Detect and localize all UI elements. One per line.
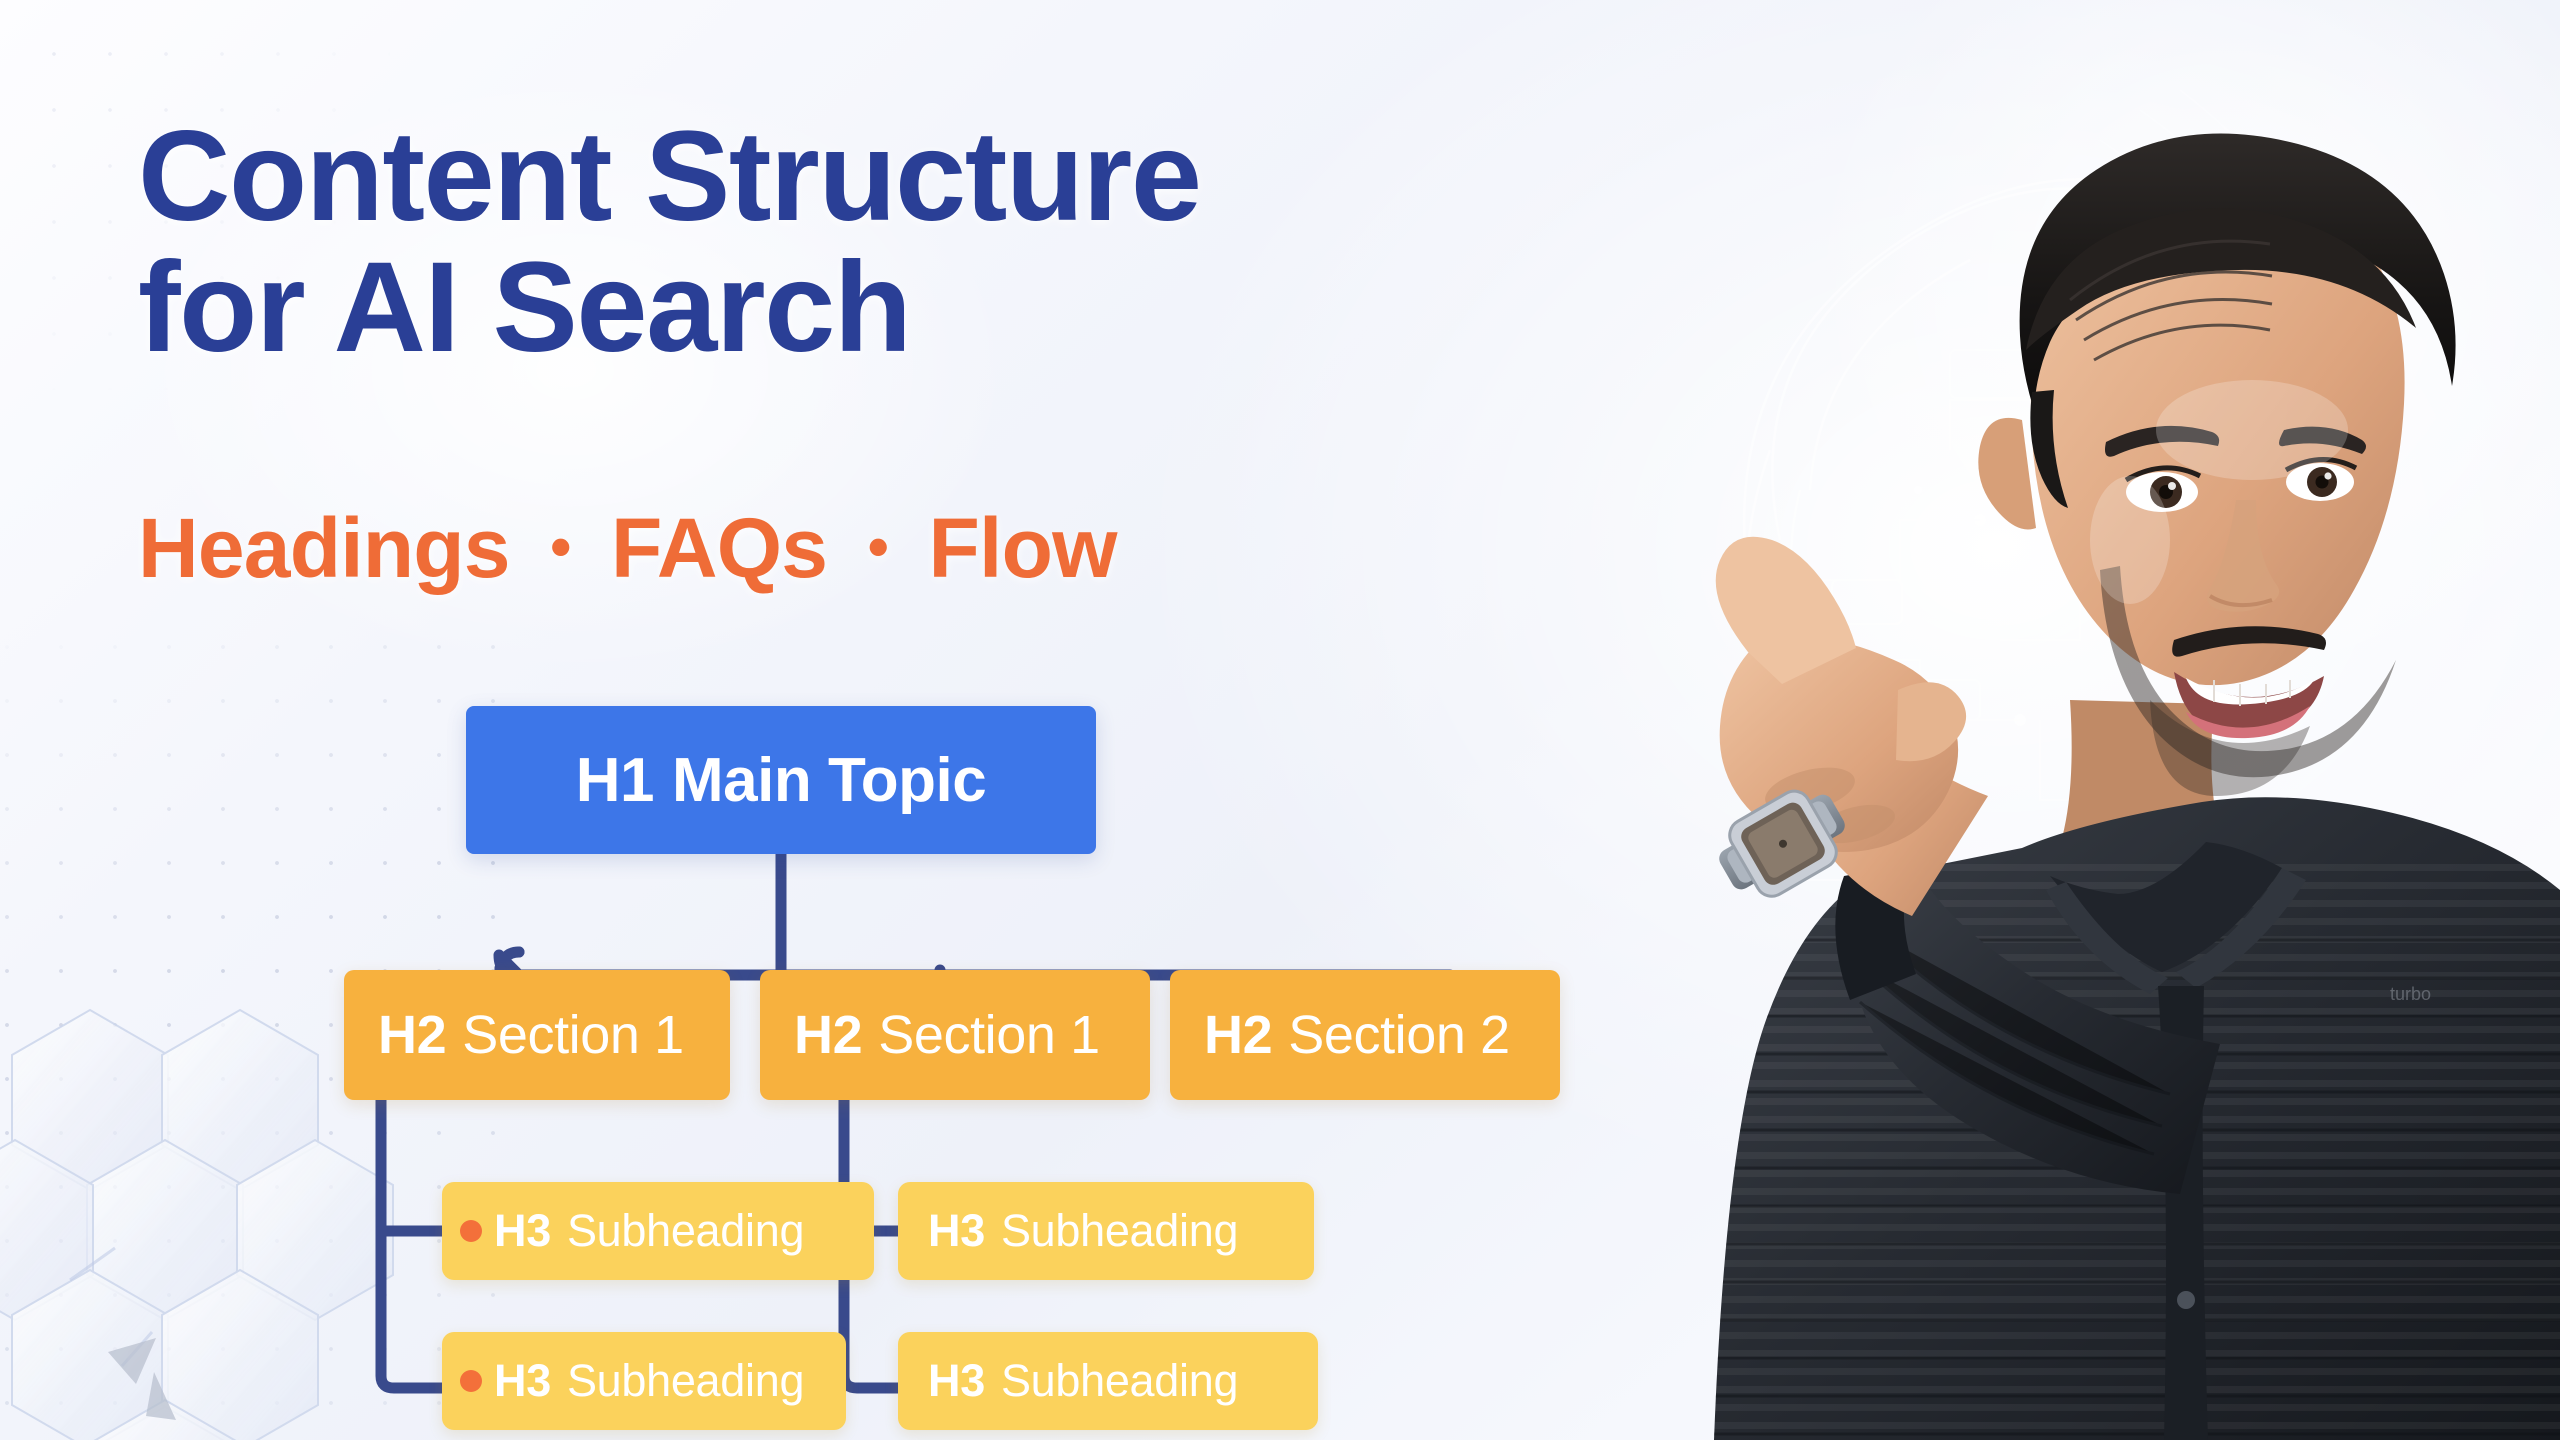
node-title-label: Section 1 — [878, 1004, 1100, 1066]
node-h2-section-1[interactable]: H2 Section 1 — [344, 970, 730, 1100]
node-h2-section-1-alt[interactable]: H2 Section 1 — [760, 970, 1150, 1100]
node-h3-subheading-4[interactable]: H3 Subheading — [898, 1332, 1318, 1430]
node-title-label: Section 2 — [1288, 1004, 1510, 1066]
node-level-label: H2 — [378, 1004, 446, 1066]
node-h1-main-topic[interactable]: H1 Main Topic — [466, 706, 1096, 854]
node-title-label: Section 1 — [462, 1004, 684, 1066]
node-title-label: Subheading — [567, 1355, 804, 1407]
bullet-dot-icon — [460, 1220, 482, 1242]
node-title-label: Subheading — [1001, 1205, 1238, 1257]
node-h3-subheading-2[interactable]: H3 Subheading — [898, 1182, 1314, 1280]
node-level-label: H2 — [794, 1004, 862, 1066]
node-level-label: H3 — [494, 1205, 551, 1257]
node-level-label: H2 — [1204, 1004, 1272, 1066]
content-hierarchy-diagram: H1 Main Topic H2 Section 1 H2 Section 1 … — [0, 0, 2560, 1440]
node-h3-subheading-1[interactable]: H3 Subheading — [442, 1182, 874, 1280]
node-h3-subheading-3[interactable]: H3 Subheading — [442, 1332, 846, 1430]
node-level-label: H3 — [928, 1205, 985, 1257]
node-title-label: Main Topic — [672, 745, 986, 816]
node-level-label: H3 — [928, 1355, 985, 1407]
node-level-label: H1 — [576, 745, 654, 816]
bullet-dot-icon — [460, 1370, 482, 1392]
thumbnail-canvas: Content Structure for AI Search Headings… — [0, 0, 2560, 1440]
node-title-label: Subheading — [1001, 1355, 1238, 1407]
node-h2-section-2[interactable]: H2 Section 2 — [1170, 970, 1560, 1100]
node-title-label: Subheading — [567, 1205, 804, 1257]
node-level-label: H3 — [494, 1355, 551, 1407]
